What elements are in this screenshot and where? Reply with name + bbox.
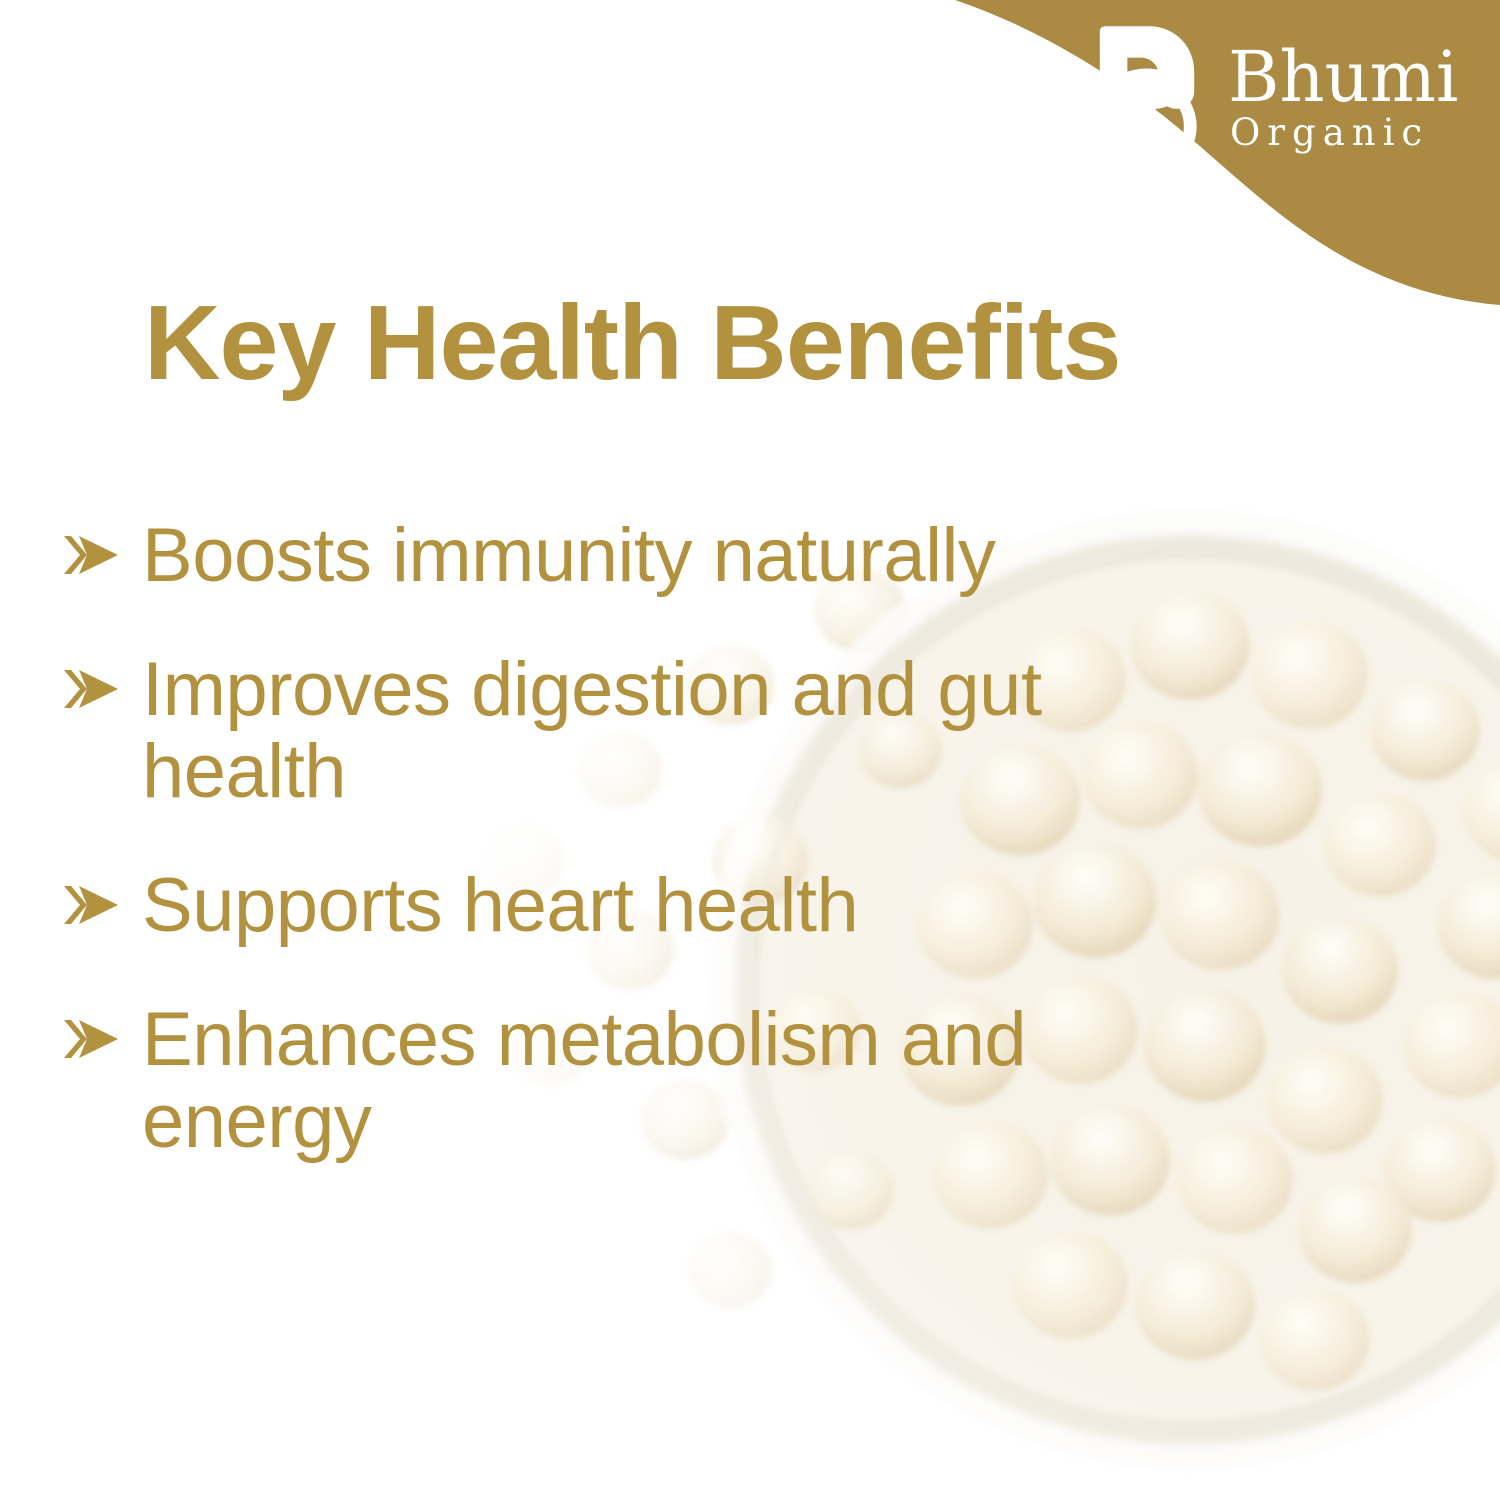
benefit-label: Boosts immunity naturally <box>142 515 995 597</box>
benefit-label: Improves digestion and gut health <box>142 649 1152 813</box>
double-chevron-right-icon <box>60 658 122 720</box>
list-item: Supports heart health <box>60 865 1250 947</box>
list-item: Boosts immunity naturally <box>60 515 1250 597</box>
content-area: Key Health Benefits Boosts immunity natu… <box>0 0 1500 1500</box>
key-health-benefits-banner: Bhumi Organic Key Health Benefits Boosts… <box>0 0 1500 1500</box>
page-title: Key Health Benefits <box>144 288 1121 399</box>
benefit-label: Supports heart health <box>142 865 858 947</box>
list-item: Improves digestion and gut health <box>60 649 1250 813</box>
double-chevron-right-icon <box>60 524 122 586</box>
double-chevron-right-icon <box>60 1008 122 1070</box>
benefit-label: Enhances metabolism and energy <box>142 999 1152 1163</box>
benefits-list: Boosts immunity naturally Improves diges… <box>60 515 1250 1163</box>
list-item: Enhances metabolism and energy <box>60 999 1250 1163</box>
double-chevron-right-icon <box>60 874 122 936</box>
